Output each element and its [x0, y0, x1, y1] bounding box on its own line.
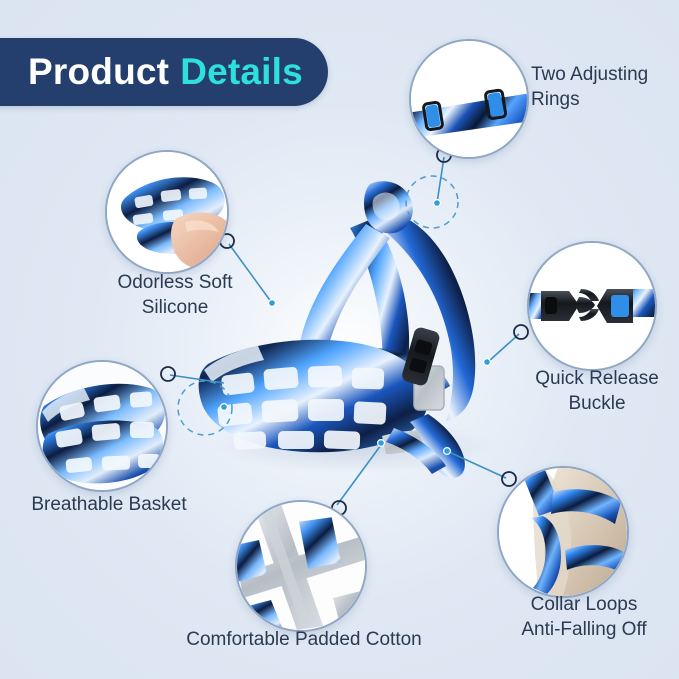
callout-label-two-adjusting-rings: Two Adjusting Rings	[531, 62, 677, 112]
page-title-word-one: Product	[28, 51, 169, 92]
padded-cotton-straps-photo	[237, 502, 365, 630]
strap-with-rings-photo	[411, 41, 527, 157]
callout-label-comfortable-padded-cotton: Comfortable Padded Cotton	[172, 627, 436, 652]
callout-label-breathable-basket: Breathable Basket	[16, 492, 202, 517]
product-image-dog-muzzle	[178, 178, 518, 488]
page-title: ProductDetails	[28, 51, 303, 93]
callout-label-collar-loops: Collar Loops Anti-Falling Off	[492, 592, 676, 642]
callout-bubble-odorless-soft-silicone[interactable]	[105, 150, 229, 274]
infographic-canvas: ProductDetails	[0, 0, 679, 679]
dog-neck-collar-loops-photo	[499, 468, 627, 596]
silicone-basket-lattice-photo	[38, 362, 166, 490]
callout-bubble-two-adjusting-rings[interactable]	[409, 39, 529, 159]
page-title-banner: ProductDetails	[0, 38, 328, 106]
callout-bubble-collar-loops[interactable]	[497, 466, 629, 598]
callout-bubble-comfortable-padded-cotton[interactable]	[235, 500, 367, 632]
callout-label-quick-release-buckle: Quick Release Buckle	[518, 366, 676, 416]
hand-holding-muzzle-photo	[107, 152, 227, 272]
callout-bubble-breathable-basket[interactable]	[36, 360, 168, 492]
page-title-word-two: Details	[180, 51, 303, 92]
callout-label-odorless-soft-silicone: Odorless Soft Silicone	[97, 270, 253, 320]
black-side-release-buckle-photo	[529, 243, 655, 369]
callout-bubble-quick-release-buckle[interactable]	[527, 241, 657, 371]
